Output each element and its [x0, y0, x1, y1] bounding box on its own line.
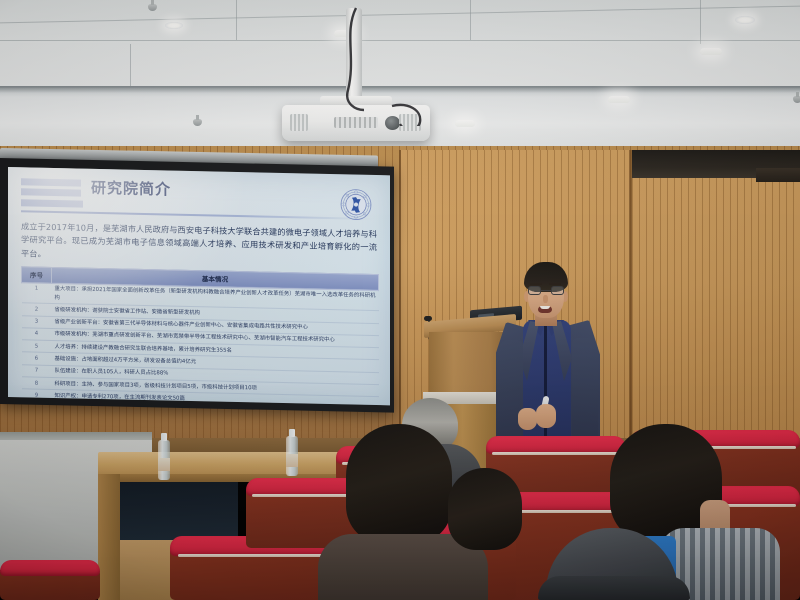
presenter-eyebrow-right — [549, 283, 561, 285]
presenter-glasses-icon — [528, 286, 564, 295]
table-header-no: 序号 — [22, 267, 52, 284]
wall-panel-seam — [629, 150, 632, 450]
table-cell-no: 7 — [22, 365, 52, 378]
water-bottle — [158, 440, 170, 480]
title-underline — [21, 210, 373, 220]
bottle-label — [158, 458, 170, 471]
slide-table: 序号 基本情况 1重大项目：承担2021年国家全面创新改革任务（新型研发机构科教… — [21, 266, 379, 405]
title-accent-bar — [21, 178, 81, 186]
soffit-downlight — [455, 120, 475, 127]
front-desk-side — [98, 474, 120, 600]
seat-piping — [178, 554, 340, 557]
slide-body-text: 成立于2017年10月，是芜湖市人民政府与西安电子科技大学联合共建的微电子领域人… — [21, 220, 379, 268]
projector-cable — [330, 6, 440, 126]
table-cell-no: 4 — [22, 328, 52, 341]
soffit-downlight — [608, 96, 630, 103]
slide-title-bar: 研究院简介 — [21, 176, 379, 218]
audience-member-head — [346, 424, 452, 544]
ceiling-downlight — [165, 22, 183, 29]
table-cell-no: 3 — [22, 315, 52, 328]
university-emblem-icon — [339, 187, 373, 222]
ceiling-downlight — [735, 16, 755, 24]
sprinkler-head-icon — [793, 96, 800, 103]
glasses-lens-left — [528, 286, 541, 295]
audience-member-head — [448, 468, 522, 550]
ceiling-tile-seam — [700, 0, 701, 44]
presenter-sleeve-left — [497, 340, 523, 444]
presenter-mouth — [538, 306, 552, 313]
presenter-hand-left — [518, 408, 537, 430]
ceiling-downlight — [700, 48, 722, 55]
table-cell-no: 1 — [22, 283, 52, 304]
lecture-hall-photo: 研究院简介 — [0, 0, 800, 600]
wood-paneled-wall-right — [632, 172, 800, 450]
table-cell-no: 8 — [22, 377, 52, 390]
title-accent-bar — [21, 199, 83, 207]
presenter-nose — [543, 295, 548, 303]
glasses-lens-right — [551, 286, 564, 295]
cap-brim-icon — [538, 576, 690, 600]
presenter-hand-right — [536, 404, 556, 428]
wall-ledge-bracket — [756, 168, 800, 182]
presenter-sleeve-right — [572, 338, 598, 444]
presenter-eyebrow-left — [530, 283, 542, 285]
water-bottle — [286, 436, 298, 476]
front-desk-cavity — [120, 482, 238, 540]
table-cell-no: 5 — [22, 340, 52, 353]
glasses-bridge — [541, 290, 551, 291]
seat-piping — [492, 452, 620, 455]
bottle-label — [286, 454, 298, 467]
ceiling-tile-seam — [236, 0, 237, 40]
slide-title: 研究院简介 — [91, 177, 171, 200]
table-cell-no: 2 — [22, 303, 52, 316]
wall-panel-seam — [399, 150, 401, 450]
presentation-slide: 研究院简介 — [8, 167, 390, 405]
ceiling-tile-seam — [130, 44, 131, 88]
auditorium-seat-headrest — [0, 560, 100, 576]
table-cell-no: 6 — [22, 352, 52, 365]
title-accent-bar — [21, 188, 81, 196]
projection-screen: 研究院简介 — [8, 167, 390, 405]
ceiling-tile-seam — [470, 0, 471, 40]
